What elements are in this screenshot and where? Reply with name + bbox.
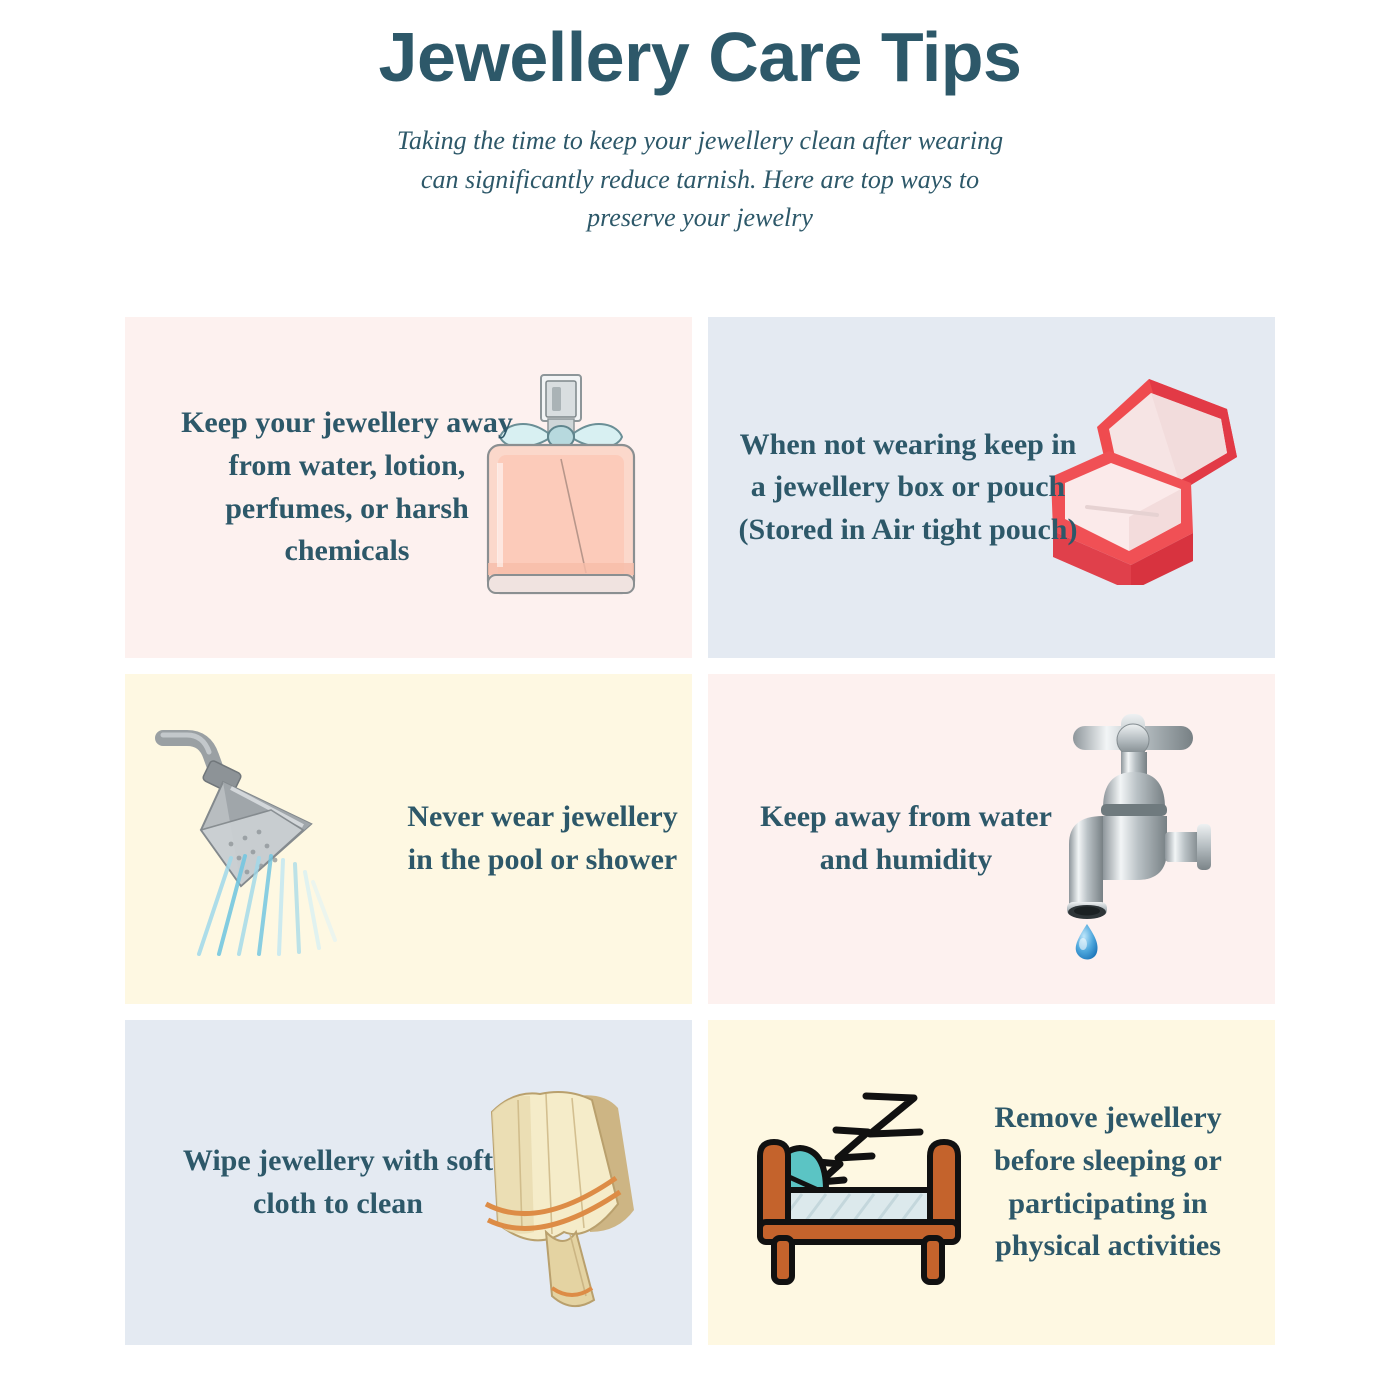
tip-card-6[interactable]: Remove jewellery before sleeping or part…: [708, 1020, 1275, 1345]
tip-card-6-text: Remove jewellery before sleeping or part…: [958, 1097, 1258, 1267]
tip-card-1[interactable]: Keep your jewellery away from water, lot…: [125, 317, 692, 658]
tip-card-4-text: Keep away from water and humidity: [756, 796, 1056, 881]
tip-card-2-text: When not wearing keep in a jewellery box…: [738, 424, 1078, 552]
tip-card-1-text: Keep your jewellery away from water, lot…: [167, 402, 527, 572]
header: Jewellery Care Tips Taking the time to k…: [0, 0, 1400, 238]
page-title: Jewellery Care Tips: [0, 18, 1400, 96]
infographic-page: Jewellery Care Tips Taking the time to k…: [0, 0, 1400, 1400]
tip-card-5[interactable]: Wipe jewellery with soft cloth to clean: [125, 1020, 692, 1345]
tips-grid: Keep your jewellery away from water, lot…: [125, 317, 1275, 1355]
tip-card-3-text: Never wear jewellery in the pool or show…: [393, 796, 692, 881]
tip-card-3[interactable]: Never wear jewellery in the pool or show…: [125, 674, 692, 1004]
page-subtitle: Taking the time to keep your jewellery c…: [390, 122, 1010, 237]
bed-sleeping-icon: [744, 1090, 974, 1290]
tip-card-5-text: Wipe jewellery with soft cloth to clean: [173, 1140, 503, 1225]
tip-card-4[interactable]: Keep away from water and humidity: [708, 674, 1275, 1004]
faucet-drip-icon: [1045, 712, 1235, 962]
shower-head-icon: [153, 726, 373, 956]
tip-card-2[interactable]: When not wearing keep in a jewellery box…: [708, 317, 1275, 658]
